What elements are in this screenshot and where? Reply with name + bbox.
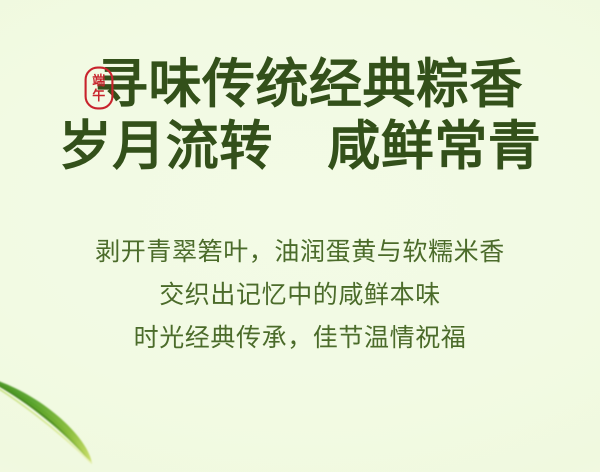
headline-line-2-left: 岁月流转 <box>59 117 273 176</box>
body-line-1: 剥开青翠箬叶，油润蛋黄与软糯米香 <box>0 240 600 265</box>
duanwu-seal-icon: 端 午 <box>84 66 114 110</box>
headline-line-2: 岁月流转 咸鲜常青 <box>0 120 600 174</box>
headline-line-1-text: 寻味传统经典粽香 <box>95 55 523 114</box>
body-copy-block: 剥开青翠箬叶，油润蛋黄与软糯米香 交织出记忆中的咸鲜本味 时光经典传承，佳节温情… <box>0 240 600 351</box>
headline-line-1: 端 午 寻味传统经典粽香 <box>0 58 600 112</box>
headline-line-2-right: 咸鲜常青 <box>327 117 541 176</box>
bamboo-leaf-decoration <box>0 368 182 472</box>
headline-block: 端 午 寻味传统经典粽香 岁月流转 咸鲜常青 <box>0 58 600 174</box>
svg-text:端: 端 <box>92 73 106 88</box>
svg-text:午: 午 <box>92 88 106 103</box>
promo-banner: 端 午 寻味传统经典粽香 岁月流转 咸鲜常青 剥开青翠箬叶，油润蛋黄与软糯米香 … <box>0 0 600 472</box>
body-line-2: 交织出记忆中的咸鲜本味 <box>0 283 600 308</box>
body-line-3: 时光经典传承，佳节温情祝福 <box>0 326 600 351</box>
